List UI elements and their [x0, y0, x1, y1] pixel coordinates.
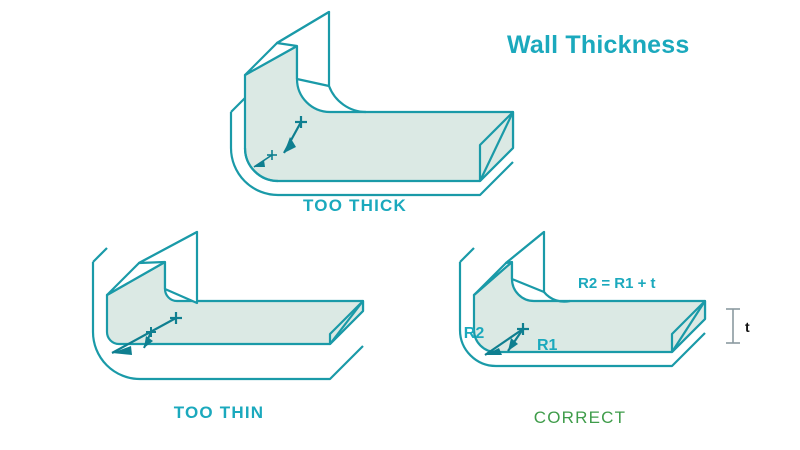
- bottom-left-edge-correct: [460, 248, 474, 262]
- figure-correct: R2 R1 R2 = R1 + t t CORRECT: [460, 232, 750, 427]
- label-thickness: t: [745, 319, 750, 335]
- label-r1: R1: [537, 337, 558, 354]
- page-title: Wall Thickness: [507, 31, 690, 59]
- wall-thickness-diagram: Wall Thickness: [0, 0, 800, 450]
- bottom-left-edge-too-thick: [231, 98, 245, 112]
- figure-too-thin: TOO THIN: [93, 232, 363, 422]
- figure-too-thick: TOO THICK: [231, 12, 513, 215]
- inner-silhouette-too-thick: [329, 86, 366, 112]
- thickness-dimension: t: [726, 309, 750, 343]
- bottom-left-edge-too-thin: [93, 248, 107, 262]
- diagram-stage: Wall Thickness: [0, 0, 800, 450]
- part-body-too-thick: [245, 46, 513, 181]
- caption-too-thick: TOO THICK: [303, 196, 407, 215]
- caption-too-thin: TOO THIN: [174, 403, 265, 422]
- formula-r2-equals-r1-plus-t: R2 = R1 + t: [578, 275, 656, 292]
- caption-correct: CORRECT: [534, 408, 626, 427]
- label-r2: R2: [464, 325, 485, 342]
